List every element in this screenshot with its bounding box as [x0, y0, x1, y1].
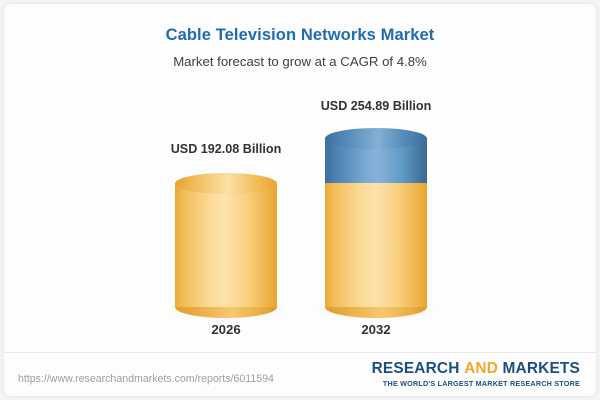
footer-divider [4, 352, 596, 353]
bar-group-2032: USD 254.89 Billion 2032 [325, 4, 427, 352]
bar-category-label-2032: 2032 [276, 322, 476, 337]
logo-word-research: RESEARCH [372, 360, 460, 377]
logo-word-and: AND [464, 360, 498, 377]
logo-wordmark: RESEARCH AND MARKETS [372, 361, 580, 376]
chart-card: Cable Television Networks Market Market … [4, 4, 596, 396]
bar-cylinder-2026 [175, 173, 277, 312]
research-and-markets-logo[interactable]: RESEARCH AND MARKETS THE WORLD'S LARGEST… [372, 361, 580, 388]
logo-tagline: THE WORLD'S LARGEST MARKET RESEARCH STOR… [372, 379, 580, 388]
cylinder-top-cap [325, 128, 427, 149]
source-url-link[interactable]: https://www.researchandmarkets.com/repor… [18, 373, 274, 385]
cylinder-body [175, 183, 277, 307]
bar-value-label-2032: USD 254.89 Billion [276, 99, 476, 113]
logo-word-markets: MARKETS [503, 360, 581, 377]
bar-segment-growth-2032 [325, 128, 427, 194]
bar-value-label-2026: USD 192.08 Billion [126, 142, 326, 156]
cylinder-top-cap [175, 173, 277, 194]
chart-plot-area: USD 192.08 Billion 2026 USD 254.89 Billi… [4, 4, 596, 352]
bar-group-2026: USD 192.08 Billion 2026 [175, 4, 277, 352]
